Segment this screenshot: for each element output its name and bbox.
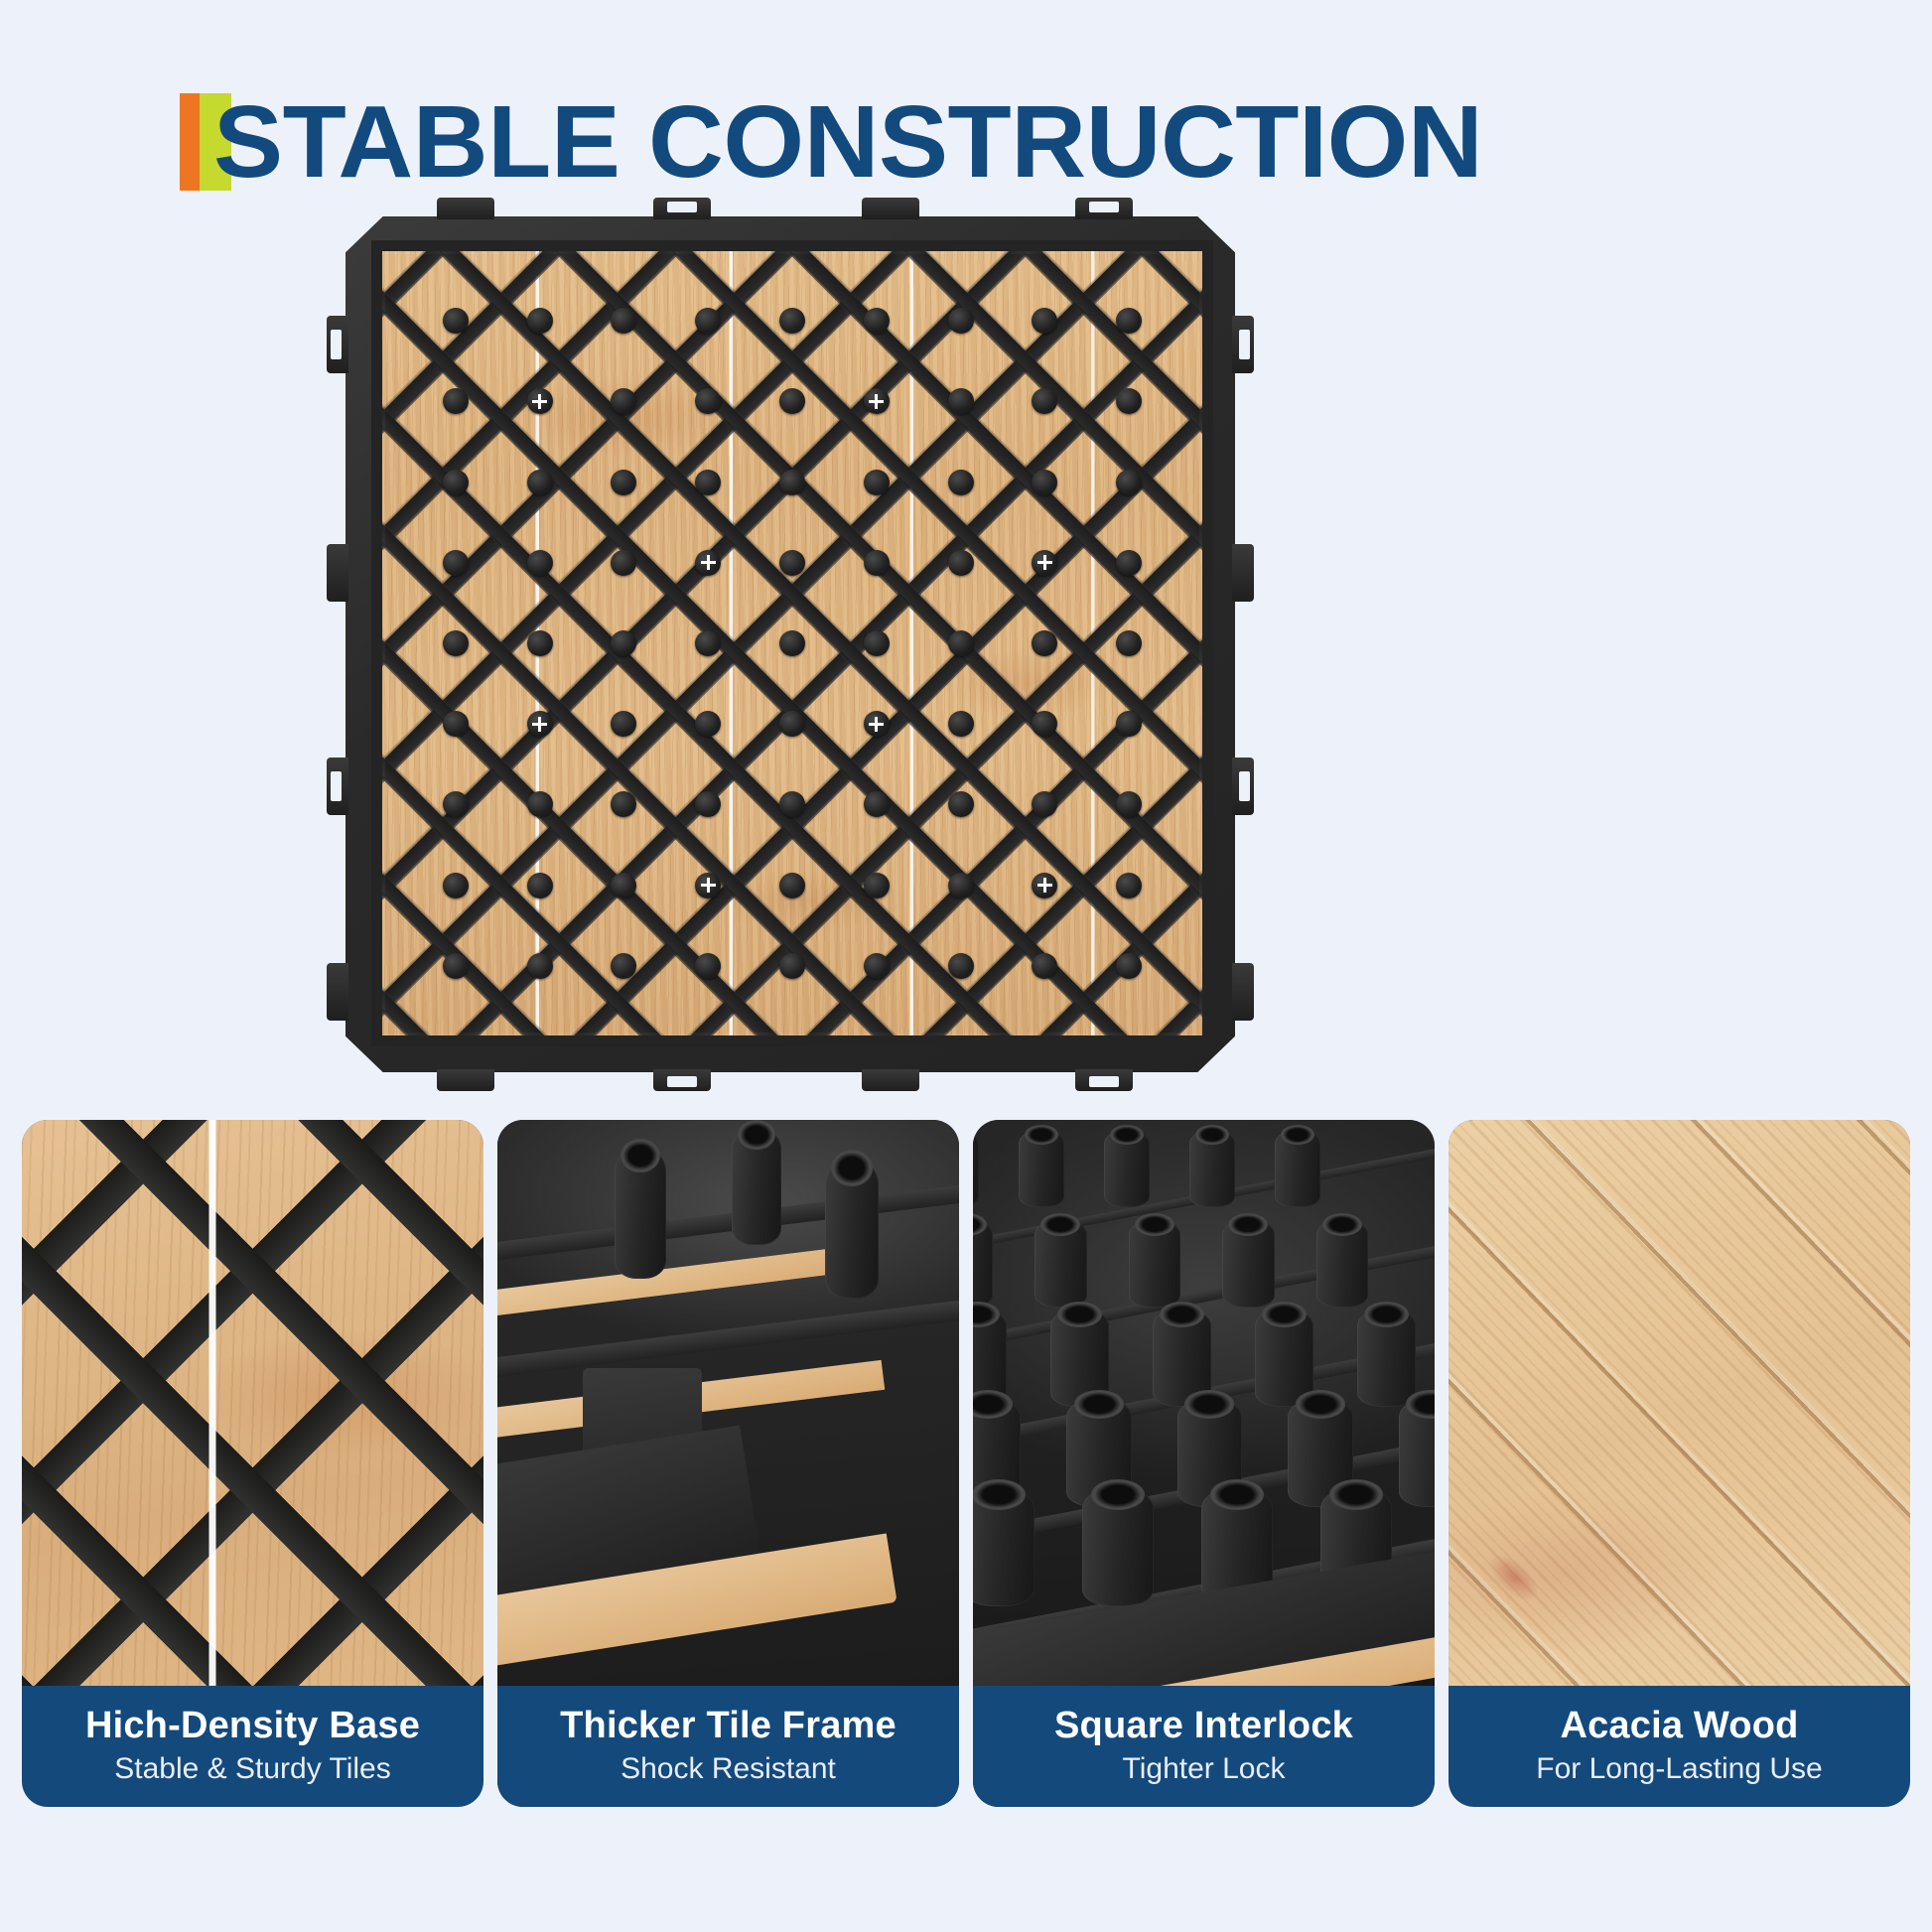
feature-subtitle: Shock Resistant — [621, 1751, 836, 1787]
interlock-tab-left — [327, 963, 348, 1021]
screw-head-icon — [527, 388, 553, 414]
lattice-boss — [527, 791, 553, 817]
lattice-boss — [1116, 630, 1142, 656]
interlock-tab-left — [327, 316, 348, 373]
interlock-tab-left — [327, 758, 348, 815]
interlock-post — [1399, 1398, 1436, 1507]
interlock-tab-top — [1075, 198, 1133, 219]
lattice-boss — [443, 388, 469, 414]
feature-title: Acacia Wood — [1560, 1706, 1798, 1746]
lattice-boss — [948, 388, 974, 414]
interlock-tab-right — [1232, 963, 1254, 1021]
screw-head-icon — [864, 711, 890, 737]
hero-product-image — [345, 216, 1235, 1072]
lattice-boss — [443, 791, 469, 817]
lattice-boss — [611, 470, 636, 495]
lattice-boss — [779, 630, 805, 656]
lattice-boss — [779, 791, 805, 817]
lattice-boss — [1116, 470, 1142, 495]
lattice-boss — [443, 873, 469, 898]
screw-head-icon — [695, 873, 721, 898]
lattice-boss — [611, 630, 636, 656]
lattice-boss — [864, 953, 890, 979]
lattice-boss — [864, 873, 890, 898]
lattice-boss — [695, 388, 721, 414]
lattice-boss — [1032, 470, 1057, 495]
lattice-boss — [695, 711, 721, 737]
lattice-boss — [443, 550, 469, 576]
feature-subtitle: Stable & Sturdy Tiles — [114, 1751, 390, 1787]
lattice-boss — [779, 711, 805, 737]
lattice-boss — [948, 791, 974, 817]
interlock-tab-top — [437, 198, 494, 219]
lattice-boss — [948, 550, 974, 576]
feature-thumbnail-row: Hich-Density Base Stable & Sturdy Tiles … — [22, 1120, 1910, 1807]
lattice-boss — [1116, 711, 1142, 737]
interlock-post — [1357, 1309, 1416, 1407]
lattice-boss — [611, 550, 636, 576]
lattice-boss — [611, 711, 636, 737]
interlock-tab-right — [1232, 758, 1254, 815]
lattice-boss — [864, 470, 890, 495]
interlock-post — [1104, 1130, 1150, 1207]
lattice-boss — [443, 308, 469, 334]
screw-head-icon — [695, 550, 721, 576]
interlock-post — [1275, 1130, 1320, 1207]
lattice-boss — [695, 791, 721, 817]
feature-subtitle: Tighter Lock — [1123, 1751, 1286, 1787]
interlock-post — [1019, 1130, 1064, 1207]
interlock-tab-top — [653, 198, 711, 219]
lattice-boss — [864, 630, 890, 656]
lattice-boss — [527, 550, 553, 576]
lattice-boss — [1032, 711, 1057, 737]
screw-head-icon — [527, 711, 553, 737]
lattice-boss — [611, 791, 636, 817]
interlock-post — [973, 1487, 1035, 1606]
lattice-boss — [695, 470, 721, 495]
lattice-boss — [1116, 550, 1142, 576]
feature-caption: Acacia Wood For Long-Lasting Use — [1449, 1686, 1910, 1807]
lattice-boss — [527, 873, 553, 898]
support-post — [825, 1160, 879, 1299]
lattice-boss — [779, 953, 805, 979]
lattice-boss — [864, 308, 890, 334]
lattice-boss — [695, 630, 721, 656]
accent-stripe-orange — [180, 93, 200, 191]
interlock-post — [1082, 1487, 1154, 1606]
lattice-boss — [1116, 791, 1142, 817]
lattice-boss — [443, 953, 469, 979]
interlock-post — [1129, 1219, 1181, 1308]
feature-card-acacia-wood[interactable]: Acacia Wood For Long-Lasting Use — [1449, 1120, 1910, 1807]
feature-title: Thicker Tile Frame — [560, 1706, 897, 1746]
lattice-boss — [1116, 873, 1142, 898]
interlock-tab-right — [1232, 544, 1254, 602]
interlock-post — [973, 1130, 979, 1207]
lattice-boss — [527, 953, 553, 979]
interlock-tab-right — [1232, 316, 1254, 373]
interlock-post — [1189, 1130, 1235, 1207]
interlock-tab-top — [862, 198, 919, 219]
lattice-boss — [527, 630, 553, 656]
feature-title: Hich-Density Base — [85, 1706, 420, 1746]
feature-card-thicker-tile-frame[interactable]: Thicker Tile Frame Shock Resistant — [497, 1120, 959, 1807]
interlock-tab-bottom — [862, 1069, 919, 1091]
interlock-tab-bottom — [1075, 1069, 1133, 1091]
lattice-boss — [1032, 953, 1057, 979]
feature-caption: Square Interlock Tighter Lock — [973, 1686, 1435, 1807]
feature-caption: Hich-Density Base Stable & Sturdy Tiles — [22, 1686, 483, 1807]
lattice-boss — [443, 711, 469, 737]
lattice-boss — [611, 953, 636, 979]
feature-caption: Thicker Tile Frame Shock Resistant — [497, 1686, 959, 1807]
lattice-boss — [611, 388, 636, 414]
lattice-boss — [779, 308, 805, 334]
page-title: STABLE CONSTRUCTION — [213, 77, 1482, 207]
tile-boss-layer — [371, 240, 1213, 1046]
lattice-boss — [779, 470, 805, 495]
lattice-boss — [864, 791, 890, 817]
lattice-boss — [695, 953, 721, 979]
lattice-boss — [1032, 630, 1057, 656]
wood-knot — [1482, 1547, 1547, 1608]
frame-rail — [497, 1185, 959, 1264]
lattice-boss — [948, 308, 974, 334]
lattice-boss — [611, 308, 636, 334]
lattice-boss — [948, 953, 974, 979]
feature-card-high-density-base[interactable]: Hich-Density Base Stable & Sturdy Tiles — [22, 1120, 483, 1807]
frame-rail — [497, 1301, 959, 1381]
lattice-boss — [948, 711, 974, 737]
lattice-boss — [779, 550, 805, 576]
lattice-boss — [527, 308, 553, 334]
interlock-post — [973, 1219, 993, 1308]
screw-head-icon — [1032, 873, 1057, 898]
lattice-boss — [1032, 388, 1057, 414]
interlock-tab-left — [327, 544, 348, 602]
interlock-tab-bottom — [437, 1069, 494, 1091]
lattice-boss — [1116, 388, 1142, 414]
lattice-boss — [527, 470, 553, 495]
page-header: STABLE CONSTRUCTION — [0, 77, 1932, 207]
lattice-boss — [779, 873, 805, 898]
lattice-boss — [864, 550, 890, 576]
lattice-boss — [1116, 308, 1142, 334]
lattice-boss — [695, 308, 721, 334]
screw-head-icon — [864, 388, 890, 414]
lattice-boss — [443, 630, 469, 656]
lattice-boss — [443, 470, 469, 495]
interlock-post — [1035, 1219, 1087, 1308]
lattice-boss — [948, 873, 974, 898]
frame-corner-art: Thicker Tile Frame Shock Resistant — [497, 1120, 959, 1807]
lattice-boss — [948, 470, 974, 495]
lattice-boss — [611, 873, 636, 898]
wood-slat — [497, 1244, 875, 1320]
lattice-boss — [779, 388, 805, 414]
interlock-post — [1316, 1219, 1369, 1308]
feature-subtitle: For Long-Lasting Use — [1536, 1751, 1823, 1787]
lattice-boss — [1032, 308, 1057, 334]
lattice-boss — [948, 630, 974, 656]
screw-head-icon — [1032, 550, 1057, 576]
feature-title: Square Interlock — [1054, 1706, 1353, 1746]
post-grid-art: Square Interlock Tighter Lock — [973, 1120, 1435, 1807]
lattice-boss — [1116, 953, 1142, 979]
interlock-tab-bottom — [653, 1069, 711, 1091]
support-post — [615, 1148, 666, 1279]
feature-card-square-interlock[interactable]: Square Interlock Tighter Lock — [973, 1120, 1435, 1807]
lattice-boss — [1032, 791, 1057, 817]
interlock-post — [1222, 1219, 1275, 1308]
support-post — [732, 1128, 781, 1245]
